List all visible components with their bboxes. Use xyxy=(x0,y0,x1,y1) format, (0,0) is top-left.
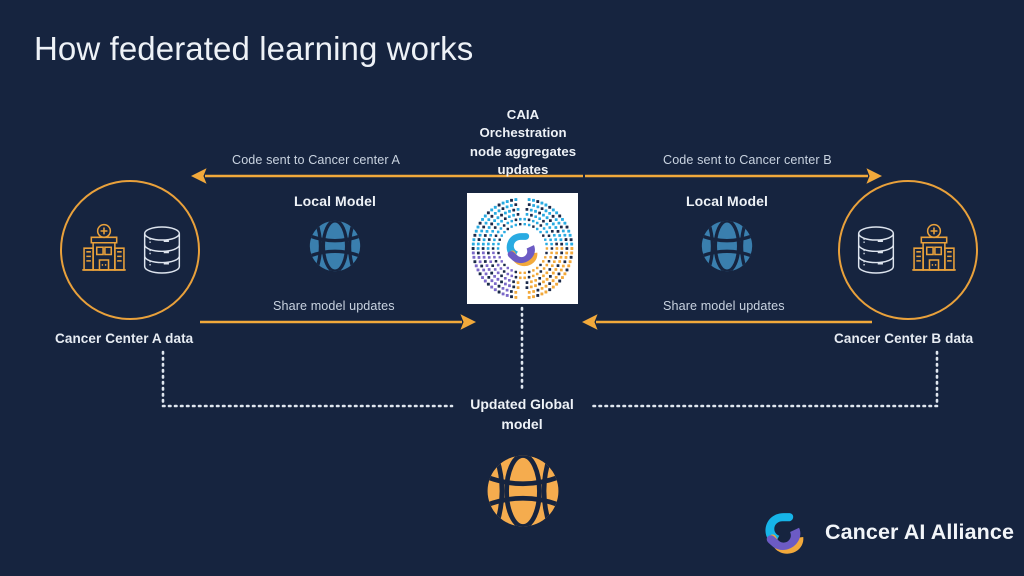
slide-canvas: How federated learning works Co xyxy=(0,0,1024,576)
node-b-icon-group xyxy=(853,221,963,279)
cancer-center-b-label: Cancer Center B data xyxy=(834,331,973,346)
globe-icon xyxy=(696,215,758,277)
local-model-a: Local Model xyxy=(270,193,400,277)
cancer-center-a-node xyxy=(60,180,200,320)
local-model-b: Local Model xyxy=(662,193,792,277)
caia-dotted-rings-logo xyxy=(467,193,578,304)
arrow-label-share-b: Share model updates xyxy=(663,299,785,313)
global-label-line-2: model xyxy=(452,414,592,434)
caia-orchestration-node[interactable] xyxy=(467,193,578,304)
globe-icon xyxy=(304,215,366,277)
local-model-a-label: Local Model xyxy=(270,193,400,209)
global-label-line-1: Updated Global xyxy=(452,394,592,414)
caia-caption-line-1: CAIA xyxy=(455,106,591,124)
arrow-label-share-a: Share model updates xyxy=(273,299,395,313)
globe-icon xyxy=(481,449,565,533)
database-icon xyxy=(853,224,899,276)
caia-trefoil-hands-logo xyxy=(757,504,813,560)
hospital-icon xyxy=(75,221,133,279)
brand-name: Cancer AI Alliance xyxy=(825,520,1014,545)
caia-caption-line-4: updates xyxy=(455,161,591,179)
cancer-center-a-label: Cancer Center A data xyxy=(55,331,193,346)
caia-node-caption: CAIA Orchestration node aggregates updat… xyxy=(455,106,591,180)
database-icon xyxy=(139,224,185,276)
local-model-b-label: Local Model xyxy=(662,193,792,209)
node-a-icon-group xyxy=(75,221,185,279)
brand-lockup: Cancer AI Alliance xyxy=(757,504,1014,560)
cancer-center-b-node xyxy=(838,180,978,320)
caia-caption-line-2: Orchestration xyxy=(455,124,591,142)
hospital-icon xyxy=(905,221,963,279)
caia-caption-line-3: node aggregates xyxy=(455,143,591,161)
updated-global-model-label: Updated Global model xyxy=(452,394,592,435)
arrow-label-code-a: Code sent to Cancer center A xyxy=(232,153,400,167)
arrow-label-code-b: Code sent to Cancer center B xyxy=(663,153,832,167)
